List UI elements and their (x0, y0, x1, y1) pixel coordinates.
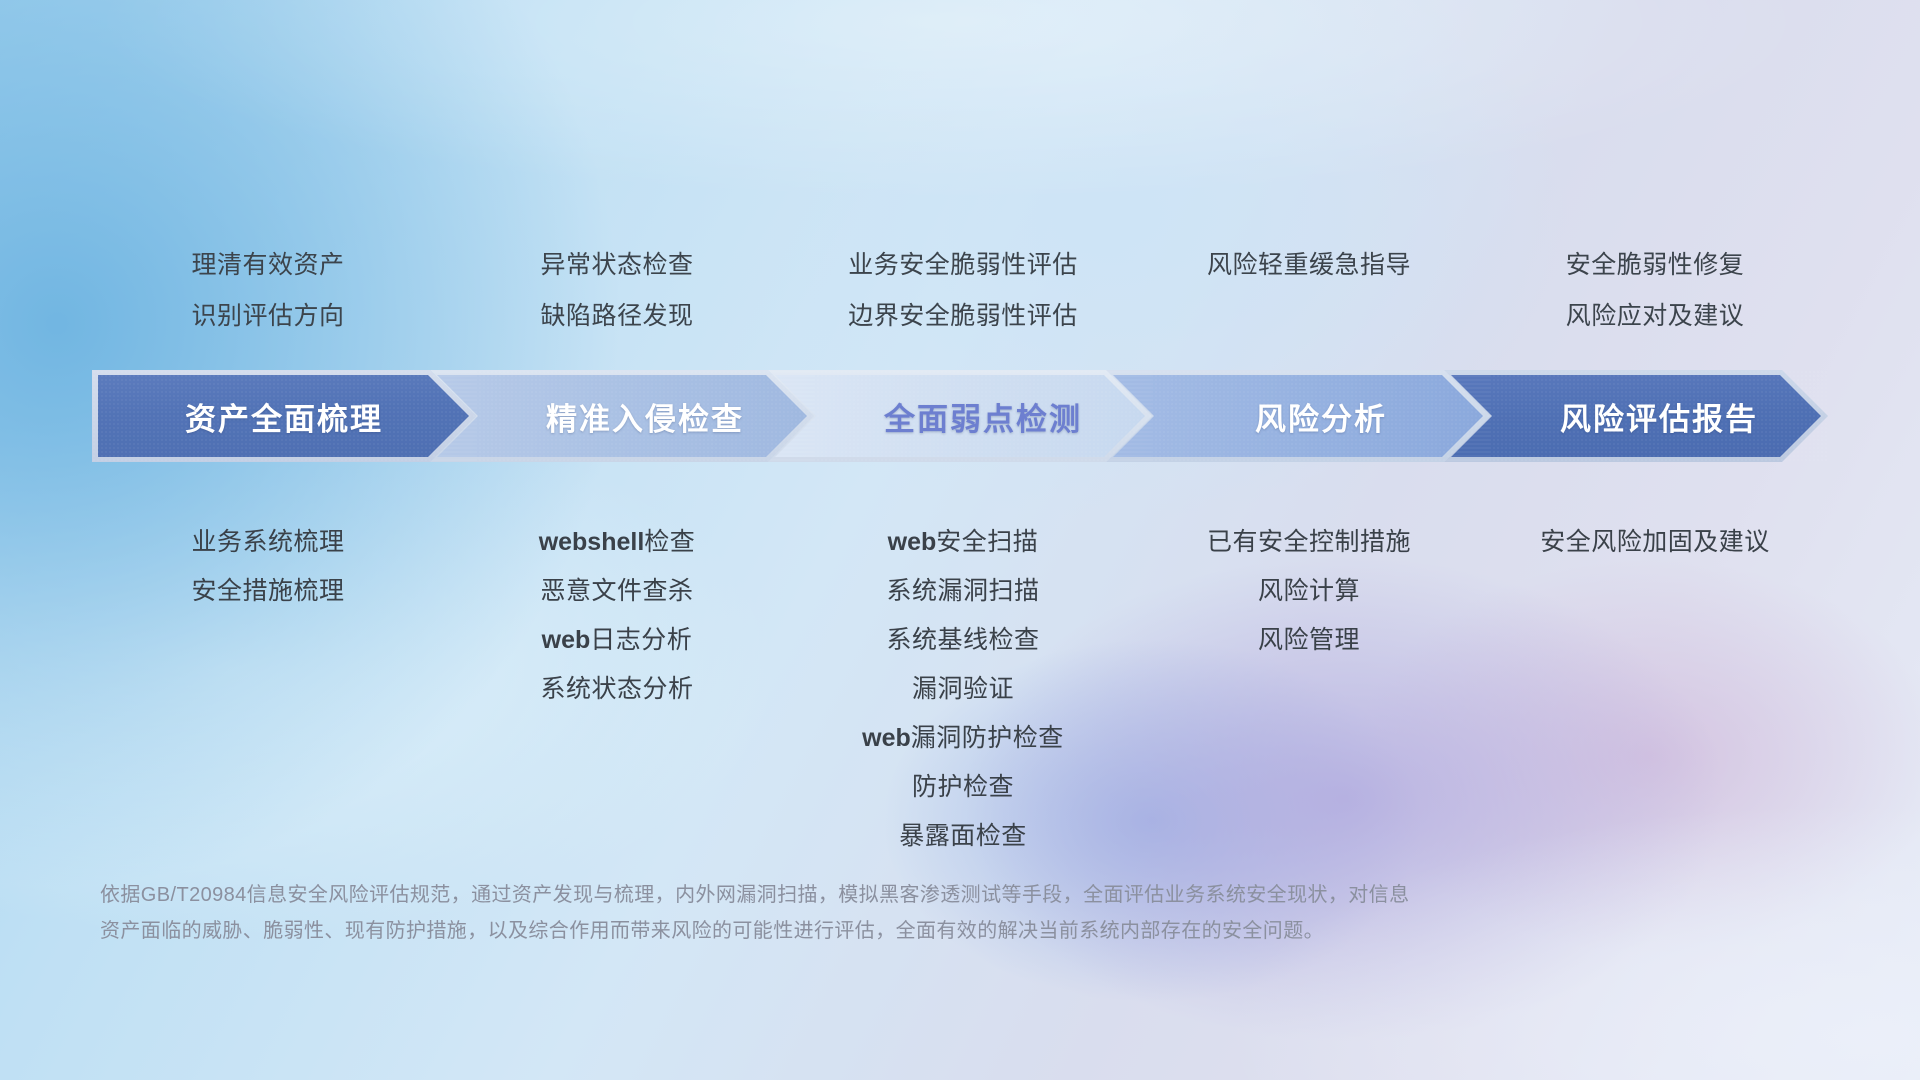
bottom-item: 防护检查 (790, 763, 1136, 812)
slide-canvas: 理清有效资产识别评估方向 异常状态检查缺陷路径发现 业务安全脆弱性评估边界安全脆… (0, 0, 1920, 1080)
footer-description: 依据GB/T20984信息安全风险评估规范，通过资产发现与梳理，内外网漏洞扫描，… (100, 877, 1630, 949)
bottom-item: 漏洞验证 (790, 665, 1136, 714)
chevron-label: 全面弱点检测 (884, 394, 1082, 439)
bottom-activities-risk-analysis: 已有安全控制措施风险计算风险管理 (1136, 518, 1482, 861)
bottom-item-latin: web (862, 724, 911, 752)
bottom-item-latin: web (542, 626, 591, 654)
chevron-stage-risk-report[interactable]: 风险评估报告 (1444, 370, 1828, 462)
top-item: 边界安全脆弱性评估 (790, 291, 1136, 342)
bottom-activities-weakness-detection: web安全扫描系统漏洞扫描系统基线检查漏洞验证web漏洞防护检查防护检查暴露面检… (790, 518, 1136, 861)
top-item: 缺陷路径发现 (444, 291, 790, 342)
bottom-activities-asset-inventory: 业务系统梳理安全措施梳理 (92, 518, 444, 861)
chevron-label: 风险分析 (1255, 394, 1387, 439)
bottom-item-text: 漏洞防护检查 (911, 724, 1064, 752)
top-outputs-weakness-detection: 业务安全脆弱性评估边界安全脆弱性评估 (790, 240, 1136, 342)
bottom-item: webshell检查 (444, 518, 790, 567)
top-outputs-risk-report: 安全脆弱性修复风险应对及建议 (1482, 240, 1828, 342)
bottom-item: web漏洞防护检查 (790, 714, 1136, 763)
chevron-stage-intrusion-check[interactable]: 精准入侵检查 (430, 370, 814, 462)
footer-line-1: 依据GB/T20984信息安全风险评估规范，通过资产发现与梳理，内外网漏洞扫描，… (100, 877, 1630, 913)
footer-line-2: 资产面临的威胁、脆弱性、现有防护措施，以及综合作用而带来风险的可能性进行评估，全… (100, 913, 1630, 949)
chevron-label: 风险评估报告 (1560, 394, 1758, 439)
bottom-item-latin: webshell (539, 528, 645, 556)
top-outputs-row: 理清有效资产识别评估方向 异常状态检查缺陷路径发现 业务安全脆弱性评估边界安全脆… (92, 240, 1828, 342)
chevron-label: 精准入侵检查 (546, 394, 744, 439)
top-outputs-risk-analysis: 风险轻重缓急指导 (1136, 240, 1482, 342)
bottom-item: web安全扫描 (790, 518, 1136, 567)
bottom-item: 风险管理 (1136, 616, 1482, 665)
top-item: 理清有效资产 (92, 240, 444, 291)
top-item: 安全脆弱性修复 (1482, 240, 1828, 291)
bottom-item-latin: web (888, 528, 937, 556)
bottom-item: 系统状态分析 (444, 665, 790, 714)
top-item: 风险应对及建议 (1482, 291, 1828, 342)
chevron-label: 资产全面梳理 (185, 394, 383, 439)
bottom-item: 风险计算 (1136, 567, 1482, 616)
top-item: 识别评估方向 (92, 291, 444, 342)
bottom-item-text: 检查 (644, 528, 695, 556)
bottom-item: 已有安全控制措施 (1136, 518, 1482, 567)
bottom-item: 安全措施梳理 (92, 567, 444, 616)
bottom-item-text: 安全扫描 (936, 528, 1038, 556)
top-item: 业务安全脆弱性评估 (790, 240, 1136, 291)
top-outputs-intrusion-check: 异常状态检查缺陷路径发现 (444, 240, 790, 342)
top-outputs-asset-inventory: 理清有效资产识别评估方向 (92, 240, 444, 342)
process-chevron-banner: 资产全面梳理 精准入侵检查 全面弱点检测 风险分析 (92, 370, 1828, 462)
chevron-stage-risk-analysis[interactable]: 风险分析 (1106, 370, 1490, 462)
bottom-item: 系统基线检查 (790, 616, 1136, 665)
bottom-item-text: 日志分析 (590, 626, 692, 654)
bottom-activities-risk-report: 安全风险加固及建议 (1482, 518, 1828, 861)
top-item: 异常状态检查 (444, 240, 790, 291)
bottom-item: 安全风险加固及建议 (1482, 518, 1828, 567)
bottom-activities-intrusion-check: webshell检查恶意文件查杀web日志分析系统状态分析 (444, 518, 790, 861)
bottom-item: 恶意文件查杀 (444, 567, 790, 616)
bottom-item: 暴露面检查 (790, 812, 1136, 861)
top-item: 风险轻重缓急指导 (1136, 240, 1482, 291)
bottom-item: web日志分析 (444, 616, 790, 665)
chevron-stage-asset-inventory[interactable]: 资产全面梳理 (92, 370, 476, 462)
bottom-activities-row: 业务系统梳理安全措施梳理 webshell检查恶意文件查杀web日志分析系统状态… (92, 518, 1828, 861)
chevron-stage-weakness-detection[interactable]: 全面弱点检测 (768, 370, 1152, 462)
bottom-item: 系统漏洞扫描 (790, 567, 1136, 616)
bottom-item: 业务系统梳理 (92, 518, 444, 567)
